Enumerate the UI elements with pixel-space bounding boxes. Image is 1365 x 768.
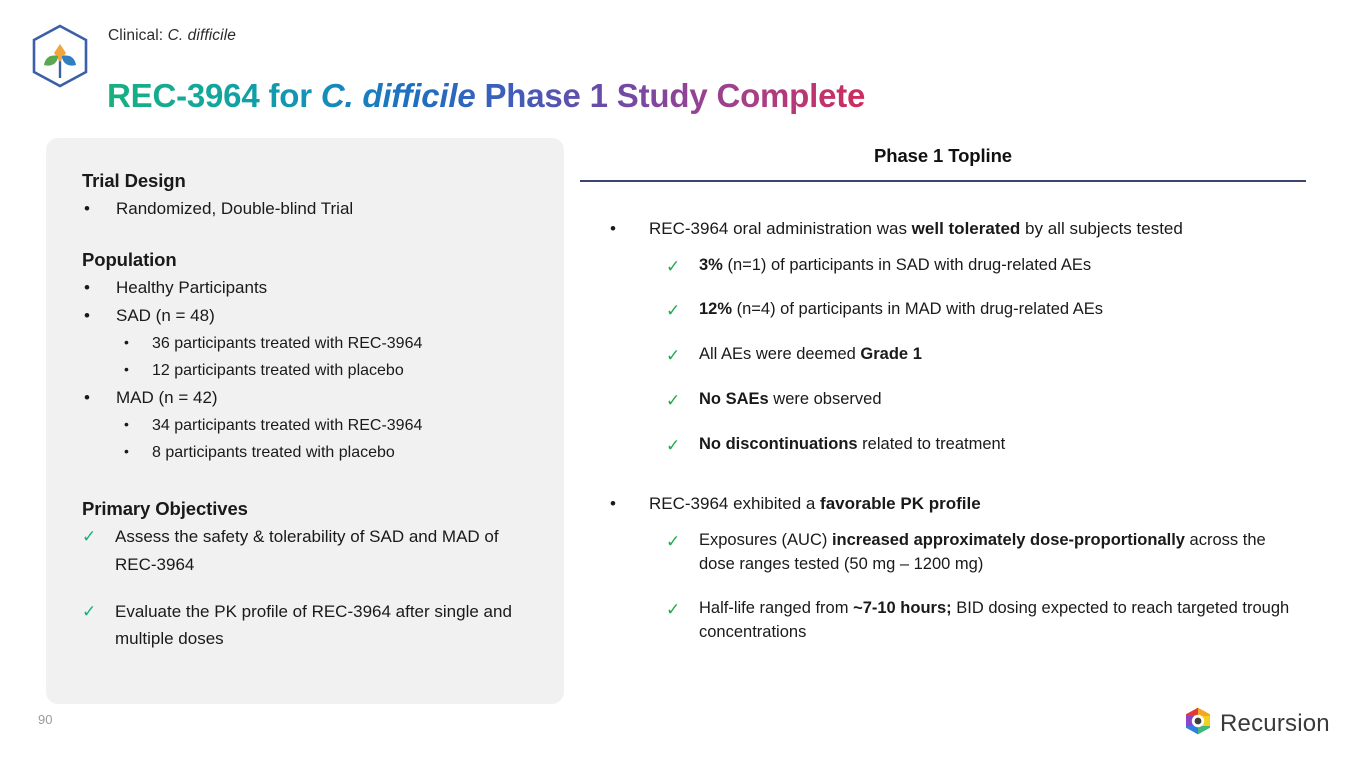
check-icon: ✓ — [666, 343, 680, 369]
bullet-icon: • — [84, 384, 90, 412]
eyebrow-italic: C. difficile — [168, 27, 236, 44]
list-item-label: Randomized, Double-blind Trial — [116, 199, 353, 218]
slide: Clinical: C. difficile REC-3964 for C. d… — [0, 0, 1365, 768]
list-item-label: 8 participants treated with placebo — [152, 444, 395, 461]
recursion-brand: Recursion — [1185, 707, 1330, 740]
hexagon-plant-logo — [28, 22, 92, 94]
plain-text: (n=1) of participants in SAD with drug-r… — [723, 256, 1091, 274]
list-item: • 12 participants treated with placebo — [116, 358, 542, 385]
bullet-icon: • — [84, 274, 90, 302]
emphasis-text: favorable PK profile — [820, 494, 981, 513]
check-icon: ✓ — [82, 599, 96, 625]
bullet-icon: • — [610, 216, 616, 242]
topline-list: •REC-3964 oral administration was well t… — [580, 216, 1306, 645]
list-item: ✓Half-life ranged from ~7-10 hours; BID … — [580, 597, 1306, 645]
list-item: ✓Exposures (AUC) increased approximately… — [580, 529, 1306, 577]
population-heading: Population — [82, 249, 542, 271]
list-item: ✓All AEs were deemed Grade 1 — [580, 343, 1306, 367]
emphasis-text: No SAEs — [699, 390, 769, 408]
bullet-icon: • — [124, 413, 129, 437]
bullet-icon: • — [84, 195, 90, 223]
check-icon: ✓ — [666, 597, 680, 623]
list-item-label: No SAEs were observed — [699, 390, 882, 408]
sad-sublist: • 36 participants treated with REC-3964 … — [116, 331, 542, 385]
list-item: • Randomized, Double-blind Trial — [82, 195, 542, 223]
primary-objectives-heading: Primary Objectives — [82, 498, 542, 520]
list-item-label: 12 participants treated with placebo — [152, 362, 404, 379]
trial-design-heading: Trial Design — [82, 170, 542, 192]
list-item-label: All AEs were deemed Grade 1 — [699, 345, 922, 363]
list-item: ✓No SAEs were observed — [580, 388, 1306, 412]
list-item-label: 12% (n=4) of participants in MAD with dr… — [699, 300, 1103, 318]
bullet-icon: • — [124, 440, 129, 464]
phase1-topline-section: Phase 1 Topline •REC-3964 oral administr… — [580, 145, 1306, 645]
list-item-label: MAD (n = 42) — [116, 388, 218, 407]
list-item: • SAD (n = 48) • 36 participants treated… — [82, 302, 542, 384]
plain-text: REC-3964 exhibited a — [649, 494, 820, 513]
title-part-2: Phase 1 Study Complete — [476, 77, 866, 114]
list-item-label: Healthy Participants — [116, 278, 267, 297]
list-item-label: Exposures (AUC) increased approximately … — [699, 531, 1266, 573]
recursion-hex-logo — [1185, 707, 1211, 740]
list-item: ✓ Assess the safety & tolerability of SA… — [82, 523, 542, 577]
trial-design-list: • Randomized, Double-blind Trial — [82, 195, 542, 223]
title-italic: C. difficile — [321, 77, 476, 114]
bullet-icon: • — [84, 302, 90, 330]
section-title: Phase 1 Topline — [580, 145, 1306, 167]
list-spacer — [580, 478, 1306, 491]
check-icon: ✓ — [666, 298, 680, 324]
emphasis-text: 12% — [699, 300, 732, 318]
plain-text: by all subjects tested — [1020, 219, 1183, 238]
list-item: ✓3% (n=1) of participants in SAD with dr… — [580, 254, 1306, 278]
emphasis-text: increased approximately dose-proportiona… — [832, 531, 1185, 549]
list-item-label: REC-3964 exhibited a favorable PK profil… — [649, 494, 981, 513]
page-title: REC-3964 for C. difficile Phase 1 Study … — [107, 77, 865, 115]
eyebrow-label: Clinical: C. difficile — [108, 27, 236, 45]
emphasis-text: well tolerated — [912, 219, 1021, 238]
emphasis-text: 3% — [699, 256, 723, 274]
list-item: • 8 participants treated with placebo — [116, 440, 542, 467]
bullet-icon: • — [124, 358, 129, 382]
list-item-label: 34 participants treated with REC-3964 — [152, 417, 422, 434]
recursion-wordmark: Recursion — [1220, 710, 1330, 738]
list-item: • MAD (n = 42) • 34 participants treated… — [82, 384, 542, 466]
check-icon: ✓ — [82, 524, 96, 550]
list-item: •REC-3964 oral administration was well t… — [580, 216, 1306, 242]
plain-text: related to treatment — [858, 435, 1006, 453]
list-item: • 36 participants treated with REC-3964 — [116, 331, 542, 358]
list-item: ✓12% (n=4) of participants in MAD with d… — [580, 298, 1306, 322]
list-item-label: 36 participants treated with REC-3964 — [152, 335, 422, 352]
primary-objectives-list: ✓ Assess the safety & tolerability of SA… — [82, 523, 542, 652]
check-icon: ✓ — [666, 529, 680, 555]
check-icon: ✓ — [666, 254, 680, 280]
emphasis-text: Grade 1 — [860, 345, 921, 363]
list-item-label: 3% (n=1) of participants in SAD with dru… — [699, 256, 1091, 274]
eyebrow-prefix: Clinical: — [108, 27, 168, 44]
title-part-1: REC-3964 for — [107, 77, 321, 114]
list-item: ✓ Evaluate the PK profile of REC-3964 af… — [82, 598, 542, 652]
title-divider — [580, 180, 1306, 182]
list-item-label: REC-3964 oral administration was well to… — [649, 219, 1183, 238]
mad-sublist: • 34 participants treated with REC-3964 … — [116, 413, 542, 467]
list-item: • Healthy Participants — [82, 274, 542, 302]
list-item-label: Assess the safety & tolerability of SAD … — [115, 527, 499, 573]
list-item-label: No discontinuations related to treatment — [699, 435, 1005, 453]
list-item: •REC-3964 exhibited a favorable PK profi… — [580, 491, 1306, 517]
plain-text: (n=4) of participants in MAD with drug-r… — [732, 300, 1103, 318]
plain-text: REC-3964 oral administration was — [649, 219, 912, 238]
emphasis-text: No discontinuations — [699, 435, 858, 453]
population-list: • Healthy Participants • SAD (n = 48) • … — [82, 274, 542, 466]
slide-header: Clinical: C. difficile REC-3964 for C. d… — [0, 0, 1365, 118]
trial-design-panel: Trial Design • Randomized, Double-blind … — [46, 138, 564, 704]
list-item-label: Half-life ranged from ~7-10 hours; BID d… — [699, 599, 1289, 641]
page-number: 90 — [38, 712, 52, 727]
list-item-label: Evaluate the PK profile of REC-3964 afte… — [115, 602, 512, 648]
plain-text: All AEs were deemed — [699, 345, 860, 363]
list-item: ✓No discontinuations related to treatmen… — [580, 433, 1306, 457]
check-icon: ✓ — [666, 433, 680, 459]
check-icon: ✓ — [666, 388, 680, 414]
plain-text: Exposures (AUC) — [699, 531, 832, 549]
plain-text: Half-life ranged from — [699, 599, 853, 617]
list-item-label: SAD (n = 48) — [116, 306, 215, 325]
emphasis-text: ~7-10 hours; — [853, 599, 952, 617]
plain-text: were observed — [769, 390, 882, 408]
bullet-icon: • — [610, 491, 616, 517]
bullet-icon: • — [124, 331, 129, 355]
list-item: • 34 participants treated with REC-3964 — [116, 413, 542, 440]
